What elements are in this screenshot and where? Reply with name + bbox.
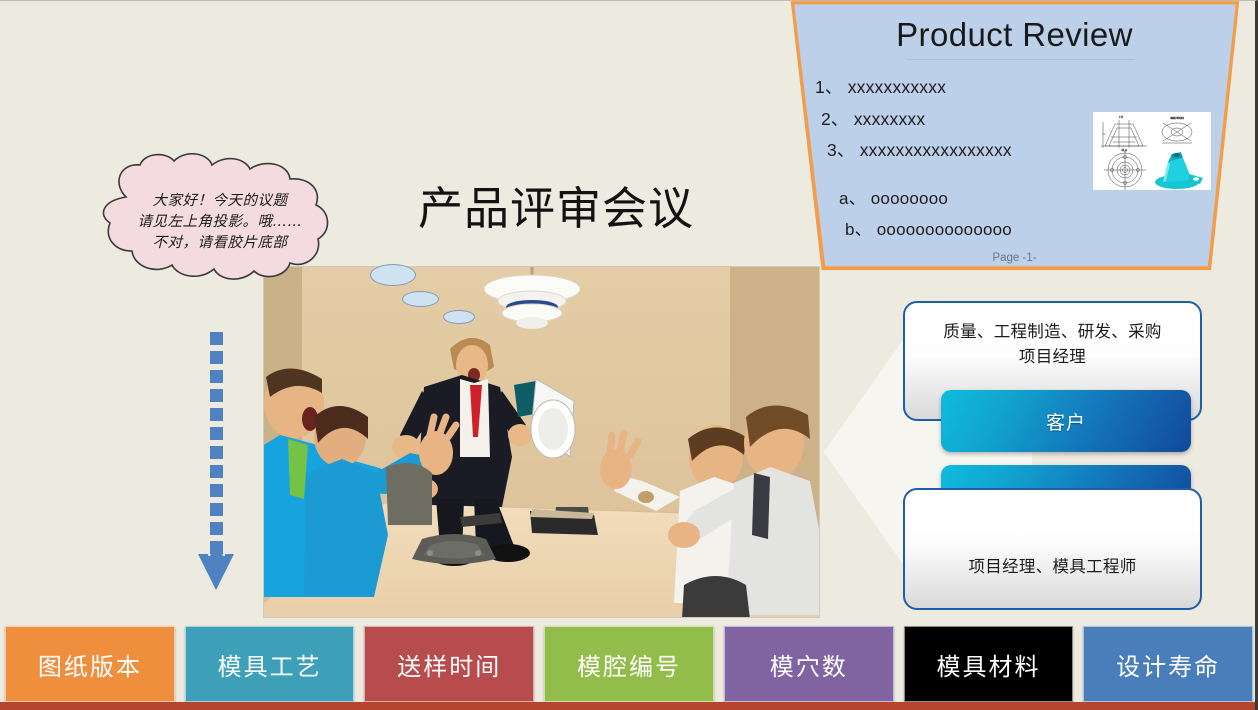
panel-list-item-1: 1、 xxxxxxxxxxx bbox=[787, 74, 1242, 99]
outer-box-bottom: 项目经理、模具工程师 bbox=[903, 488, 1202, 610]
bottom-underline bbox=[0, 702, 1258, 710]
outer-box-bottom-text: 项目经理、模具工程师 bbox=[969, 555, 1137, 580]
bottom-category-cell-5[interactable]: 模穴数 bbox=[724, 626, 894, 702]
speech-cloud-text: 大家好！今天的议题 请见左上角投影。哦…… 不对，请看胶片底部 bbox=[98, 191, 342, 254]
bottom-category-label: 送样时间 bbox=[397, 647, 501, 682]
svg-text:SECTION: SECTION bbox=[1170, 116, 1183, 120]
stakeholder-diagram: 质量、工程制造、研发、采购 项目经理 客户 供应商 项目经理、模具工程师 bbox=[822, 292, 1222, 620]
panel-title: Product Review bbox=[787, 16, 1242, 54]
bottom-category-label: 模具工艺 bbox=[218, 647, 322, 682]
panel-sublist-item-b: b、 oooooooooooooo bbox=[787, 215, 1242, 240]
cloud-line-2: 请见左上角投影。哦…… bbox=[98, 212, 342, 233]
panel-page-number: Page -1- bbox=[787, 252, 1242, 264]
bottom-category-cell-6[interactable]: 模具材料 bbox=[904, 626, 1074, 702]
bottom-category-cell-2[interactable]: 模具工艺 bbox=[185, 626, 355, 702]
outer-box-top-line2: 项目经理 bbox=[1019, 347, 1086, 366]
dotted-down-arrow bbox=[196, 332, 238, 594]
bottom-category-label: 模腔编号 bbox=[577, 647, 681, 682]
slide-canvas: Product Review 1、 xxxxxxxxxxx 2、 xxxxxxx… bbox=[0, 0, 1258, 710]
panel-title-underline bbox=[907, 59, 1135, 60]
outer-box-top-text: 质量、工程制造、研发、采购 项目经理 bbox=[943, 320, 1161, 370]
svg-text:7.5: 7.5 bbox=[1119, 115, 1124, 119]
slide-title: 产品评审会议 bbox=[418, 172, 694, 237]
bottom-category-label: 图纸版本 bbox=[38, 647, 142, 682]
bottom-category-cell-7[interactable]: 设计寿命 bbox=[1083, 626, 1253, 702]
thought-bubble-small bbox=[443, 310, 475, 324]
bottom-category-cell-4[interactable]: 模腔编号 bbox=[544, 626, 714, 702]
svg-text:41.2: 41.2 bbox=[1121, 148, 1127, 152]
bottom-category-label: 模穴数 bbox=[770, 647, 848, 682]
inner-box-customer[interactable]: 客户 bbox=[941, 390, 1191, 452]
cloud-line-3: 不对，请看胶片底部 bbox=[98, 233, 342, 254]
bottom-category-row: 图纸版本模具工艺送样时间模腔编号模穴数模具材料设计寿命 bbox=[5, 626, 1253, 702]
cad-drawing-thumbnail: 7.5 41.2 SECTION bbox=[1093, 112, 1211, 190]
bottom-category-label: 模具材料 bbox=[936, 647, 1040, 682]
speech-cloud: 大家好！今天的议题 请见左上角投影。哦…… 不对，请看胶片底部 bbox=[82, 153, 354, 298]
thought-bubble-large bbox=[370, 264, 416, 286]
thought-bubble-medium bbox=[402, 291, 439, 307]
inner-box-customer-label: 客户 bbox=[1046, 408, 1086, 435]
outer-box-top-line1: 质量、工程制造、研发、采购 bbox=[943, 322, 1161, 341]
cloud-line-1: 大家好！今天的议题 bbox=[98, 191, 342, 212]
bottom-category-label: 设计寿命 bbox=[1116, 647, 1220, 682]
bottom-category-cell-1[interactable]: 图纸版本 bbox=[5, 626, 175, 702]
bottom-category-cell-3[interactable]: 送样时间 bbox=[364, 626, 534, 702]
bottom-category-bar: 图纸版本模具工艺送样时间模腔编号模穴数模具材料设计寿命 bbox=[0, 622, 1258, 710]
meeting-room-photo bbox=[263, 266, 820, 618]
